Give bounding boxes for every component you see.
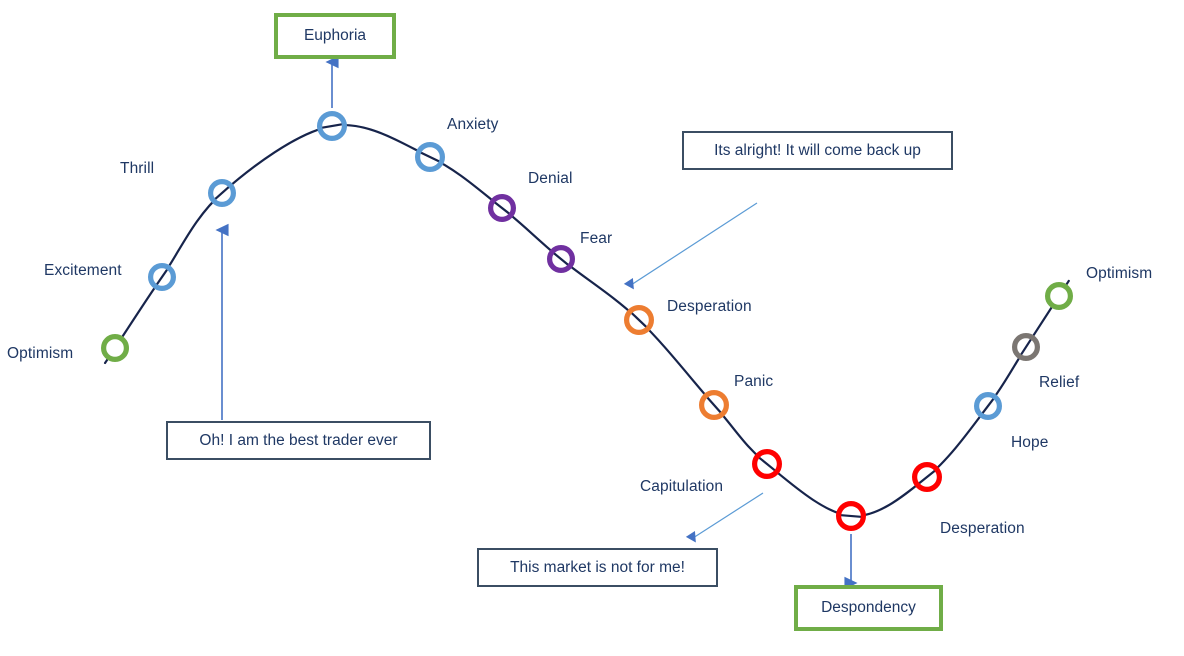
marker-desperation-11[interactable]	[915, 465, 940, 490]
marker-desperation-7[interactable]	[627, 308, 652, 333]
point-label-hope: Hope	[1011, 434, 1048, 452]
marker-excitement-1[interactable]	[151, 266, 174, 289]
marker-optimism-14[interactable]	[1048, 285, 1071, 308]
point-label-optimism-right: Optimism	[1086, 265, 1152, 283]
marker-despondency-10[interactable]	[838, 504, 864, 529]
marker-capitulation-9[interactable]	[755, 452, 780, 477]
callout-despondency[interactable]: Despondency	[794, 585, 943, 631]
callout-text: This market is not for me!	[510, 559, 685, 577]
callout-text: Oh! I am the best trader ever	[199, 432, 397, 450]
come-back-up-arrow	[631, 203, 757, 285]
point-label-panic: Panic	[734, 373, 773, 391]
data-point-markers	[104, 114, 1071, 529]
callout-euphoria[interactable]: Euphoria	[274, 13, 396, 59]
marker-relief-13[interactable]	[1015, 336, 1038, 359]
marker-fear-6[interactable]	[550, 248, 573, 271]
point-label-capitulation: Capitulation	[640, 478, 723, 496]
callout-text: Euphoria	[304, 27, 366, 45]
callout-come-back-up[interactable]: Its alright! It will come back up	[682, 131, 953, 170]
marker-anxiety-4[interactable]	[418, 145, 443, 170]
marker-optimism-0[interactable]	[104, 337, 127, 360]
point-label-denial: Denial	[528, 170, 573, 188]
point-label-excitement: Excitement	[44, 262, 122, 280]
marker-euphoria-3[interactable]	[319, 114, 345, 139]
point-label-optimism-left: Optimism	[7, 345, 73, 363]
callout-text: Despondency	[821, 599, 916, 617]
marker-thrill-2[interactable]	[211, 182, 234, 205]
marker-panic-8[interactable]	[702, 393, 727, 418]
point-label-fear: Fear	[580, 230, 612, 248]
point-label-relief: Relief	[1039, 374, 1079, 392]
marker-denial-5[interactable]	[491, 197, 514, 220]
callout-not-for-me[interactable]: This market is not for me!	[477, 548, 718, 587]
diagram-canvas: OptimismExcitementThrillAnxietyDenialFea…	[0, 0, 1184, 656]
callout-text: Its alright! It will come back up	[714, 142, 921, 160]
callout-best-trader[interactable]: Oh! I am the best trader ever	[166, 421, 431, 460]
marker-hope-12[interactable]	[977, 395, 1000, 418]
point-label-anxiety: Anxiety	[447, 116, 499, 134]
not-for-me-arrow	[693, 493, 763, 538]
point-label-desperation-right: Desperation	[940, 520, 1025, 538]
point-label-desperation-left: Desperation	[667, 298, 752, 316]
point-label-thrill: Thrill	[120, 160, 154, 178]
